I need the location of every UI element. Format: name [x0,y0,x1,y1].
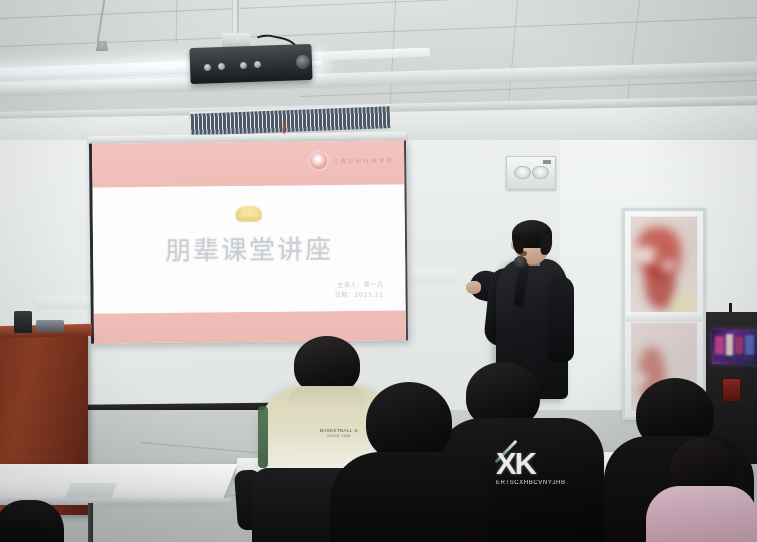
jacket-print-line2: SINCE 1998 [312,434,366,438]
cabinet-badge [722,378,741,402]
audience-member-pink-jacket [646,486,757,542]
door-glass-upper [630,216,698,314]
speaker-right-arm [548,276,574,362]
screen-pixel [715,336,724,354]
poster-highlight [633,247,655,263]
socket-outlet-icon [514,166,531,179]
socket-outlet-icon [532,166,549,179]
university-logo: 江西应用科技学院 [310,151,394,169]
slide-subtitle: 主讲人：黄一凡 日期：2023.12 [335,280,384,301]
door-rail [626,312,702,322]
gold-ornament-icon [236,206,262,222]
audience-head [366,382,452,462]
logo-emblem-icon [310,152,327,169]
jacket-print: BASKETBALL·S SINCE 1998 [312,428,366,438]
panel-indicator [543,160,551,164]
lectern-device [36,320,64,332]
screen-pixel [735,337,743,354]
screen-pixel [745,335,754,355]
desk-leg [88,503,93,542]
student-desk [0,464,237,500]
cabinet-display-screen[interactable] [712,330,757,364]
jacket-logo-text: XK [496,448,535,479]
jacket-logo-caption: ERTSCXHBCVNYJHB [496,480,574,486]
jacket-side-panel [258,406,268,468]
poster-highlight [633,373,647,385]
screen-bar [714,356,754,361]
jacket-collar [288,386,366,408]
wall-marking [36,296,90,309]
screen-pixel [726,334,733,356]
logo-text: 江西应用科技学院 [333,156,395,165]
speaker-left-hand [466,281,481,294]
fire-sprinkler-icon [96,41,108,51]
wall-outlet-plate[interactable] [412,270,456,284]
poster-highlight [661,261,675,271]
paper-sheet [65,483,117,498]
jacket-logo-graphic: XK ERTSCXHBCVNYJHB [496,448,574,492]
poster-shape [671,293,695,314]
slide-footer-band [94,310,406,343]
projection-screen: 江西应用科技学院 朋辈课堂讲座 主讲人：黄一凡 日期：2023.12 [89,140,408,343]
slide-title: 朋辈课堂讲座 [93,228,405,268]
presentation-slide: 江西应用科技学院 朋辈课堂讲座 主讲人：黄一凡 日期：2023.12 [92,140,406,343]
slide-header-band: 江西应用科技学院 [92,140,404,187]
slide-presenter: 主讲人：黄一凡 [335,280,384,291]
slide-body: 朋辈课堂讲座 主讲人：黄一凡 日期：2023.12 [92,184,405,313]
lectern-device [14,311,32,333]
slide-date: 日期：2023.12 [335,290,384,301]
classroom-photo: 江西应用科技学院 朋辈课堂讲座 主讲人：黄一凡 日期：2023.12 [0,0,757,542]
jacket-print-line1: BASKETBALL·S [312,428,366,433]
audience-member-front-left [330,452,490,542]
wall-socket-panel[interactable] [506,156,556,190]
